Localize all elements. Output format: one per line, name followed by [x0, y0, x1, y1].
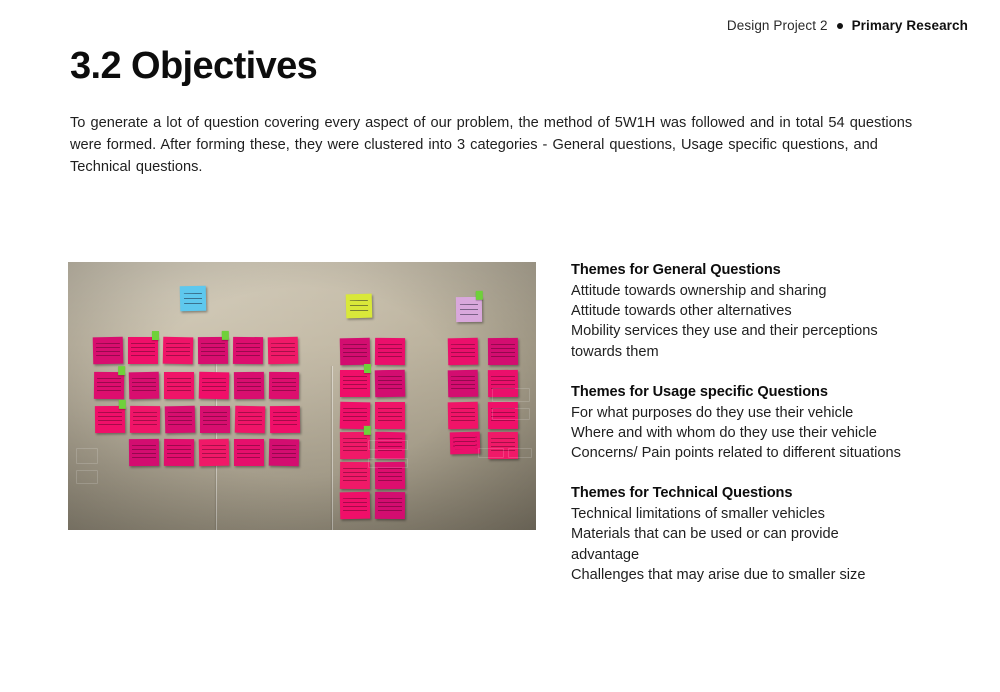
theme-line: For what purposes do they use their vehi…	[571, 403, 961, 423]
sticky-note	[164, 372, 194, 399]
sticky-note	[200, 406, 230, 433]
sticky-note	[488, 338, 518, 365]
theme-line: towards them	[571, 342, 961, 362]
theme-line: Concerns/ Pain points related to differe…	[571, 443, 961, 463]
sticky-note	[375, 492, 405, 519]
wall-seam	[332, 366, 333, 530]
sticky-note	[163, 337, 194, 365]
figure-image	[68, 262, 536, 530]
theme-line: advantage	[571, 545, 961, 565]
sticky-note	[448, 338, 479, 366]
theme-block: Themes for General QuestionsAttitude tow…	[571, 260, 961, 362]
sticky-note	[268, 438, 299, 466]
sticky-note	[340, 492, 371, 520]
sticky-note	[448, 370, 479, 398]
sticky-note	[488, 370, 518, 397]
sticky-note	[198, 438, 229, 466]
sticky-note	[375, 402, 405, 429]
theme-heading: Themes for Usage specific Questions	[571, 382, 961, 402]
sticky-note	[233, 337, 263, 364]
sticky-note	[450, 432, 481, 455]
sticky-note	[93, 337, 124, 365]
themes-column: Themes for General QuestionsAttitude tow…	[571, 260, 961, 585]
theme-line: Mobility services they use and their per…	[571, 321, 961, 341]
sticky-note	[234, 439, 264, 466]
theme-line: Technical limitations of smaller vehicle…	[571, 504, 961, 524]
theme-heading: Themes for Technical Questions	[571, 483, 961, 503]
intro-paragraph: To generate a lot of question covering e…	[70, 112, 942, 179]
slide-header: Design Project 2 Primary Research	[727, 18, 968, 33]
note-tab-marker	[222, 331, 229, 340]
sticky-note	[129, 372, 160, 400]
note-tab-marker	[364, 426, 371, 435]
sticky-note	[94, 372, 124, 399]
wall-emboss	[76, 448, 98, 464]
sticky-note	[340, 432, 370, 459]
sticky-note	[270, 405, 300, 432]
sticky-note	[130, 405, 160, 432]
sticky-note	[269, 372, 299, 399]
header-note-technical	[456, 297, 482, 322]
theme-line: Attitude towards ownership and sharing	[571, 281, 961, 301]
note-tab-marker	[152, 331, 159, 340]
slide: Design Project 2 Primary Research 3.2 Ob…	[0, 0, 1000, 692]
note-tab-marker	[118, 366, 125, 375]
header-note-general	[180, 286, 207, 312]
note-tab-marker	[119, 399, 126, 408]
header-project-label: Design Project 2	[727, 18, 828, 33]
sticky-note	[95, 405, 125, 432]
sticky-note	[375, 462, 405, 489]
sticky-note	[448, 402, 479, 430]
sticky-note	[268, 337, 299, 365]
sticky-note	[375, 338, 405, 365]
theme-block: Themes for Usage specific QuestionsFor w…	[571, 382, 961, 464]
theme-heading: Themes for General Questions	[571, 260, 961, 280]
sticky-note	[340, 462, 370, 489]
note-tab-marker	[476, 291, 483, 300]
figure: Generating questions and clustering	[68, 262, 536, 530]
sticky-note	[128, 439, 158, 466]
sticky-note	[488, 432, 518, 459]
sticky-note	[235, 405, 266, 433]
sticky-note	[165, 405, 196, 433]
sticky-note	[163, 439, 193, 466]
header-note-usage-specific	[346, 294, 373, 319]
theme-line: Challenges that may arise due to smaller…	[571, 565, 961, 585]
sticky-note	[375, 432, 406, 460]
sticky-note	[488, 402, 518, 429]
sticky-note	[199, 372, 230, 400]
theme-block: Themes for Technical QuestionsTechnical …	[571, 483, 961, 585]
note-tab-marker	[364, 364, 371, 373]
sticky-note	[234, 372, 264, 399]
bullet-separator-icon	[837, 23, 843, 29]
theme-line: Materials that can be used or can provid…	[571, 524, 961, 544]
sticky-note	[198, 337, 228, 364]
header-section-label: Primary Research	[852, 18, 968, 33]
sticky-note	[128, 337, 158, 364]
sticky-note	[340, 338, 371, 366]
sticky-note	[375, 370, 406, 398]
theme-line: Attitude towards other alternatives	[571, 301, 961, 321]
page-title: 3.2 Objectives	[70, 47, 317, 85]
wall-emboss	[76, 470, 98, 484]
sticky-note	[340, 370, 370, 397]
theme-line: Where and with whom do they use their ve…	[571, 423, 961, 443]
